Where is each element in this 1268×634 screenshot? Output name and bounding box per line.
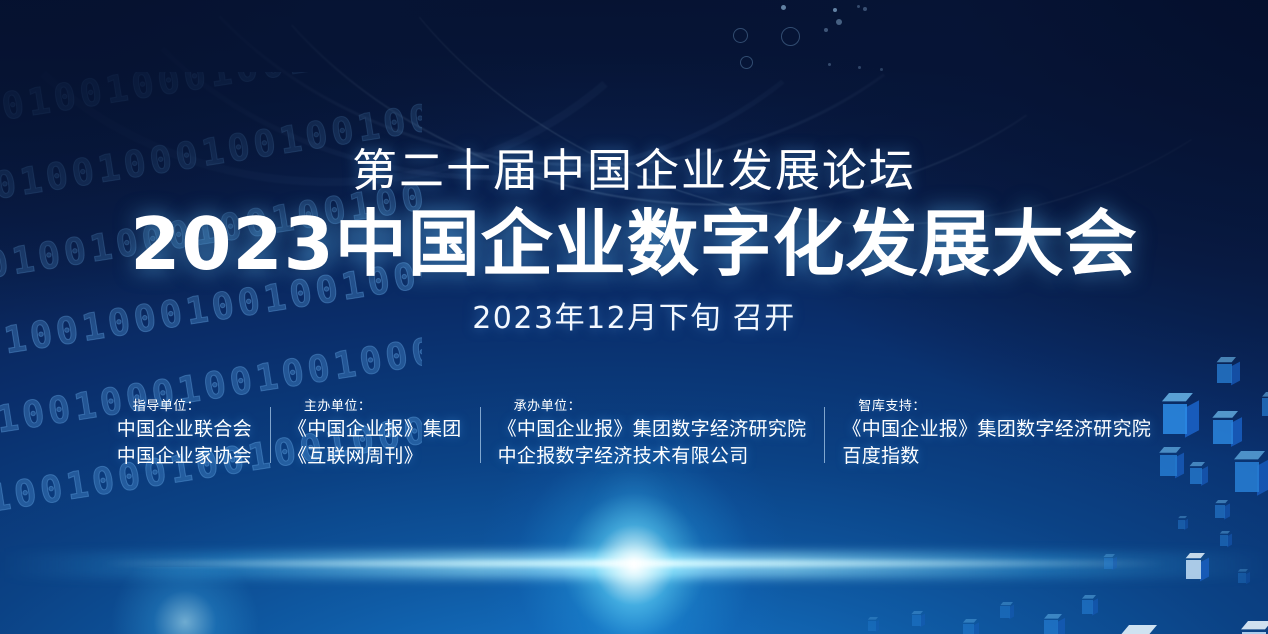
organizer-name: 《中国企业报》集团数字经济研究院 <box>842 416 1151 443</box>
forum-subtitle: 第二十届中国企业发展论坛 <box>352 148 916 193</box>
conference-poster: 00100100010010010001001 0010010001001001… <box>0 0 1268 634</box>
organizer-columns: 指导单位： 中国企业联合会 中国企业家协会 主办单位： 《中国企业报》集团 《互… <box>0 398 1268 469</box>
organizer-label: 主办单位： <box>288 398 462 416</box>
organizer-name: 《中国企业报》集团 <box>288 416 462 443</box>
event-date: 2023年12月下旬 召开 <box>472 304 796 334</box>
organizer-name: 中国企业家协会 <box>117 443 252 470</box>
organizer-label: 智库支持： <box>842 398 1151 416</box>
organizer-name: 百度指数 <box>842 443 1151 470</box>
organizer-column-undertaker: 承办单位： 《中国企业报》集团数字经济研究院 中企报数字经济技术有限公司 <box>480 398 825 469</box>
organizer-column-guidance: 指导单位： 中国企业联合会 中国企业家协会 <box>99 398 270 469</box>
organizer-column-thinktank: 智库支持： 《中国企业报》集团数字经济研究院 百度指数 <box>824 398 1169 469</box>
organizer-name: 中国企业联合会 <box>117 416 252 443</box>
organizer-name: 《互联网周刊》 <box>288 443 462 470</box>
page-title: 2023中国企业数字化发展大会 <box>130 206 1137 282</box>
organizer-name: 中企报数字经济技术有限公司 <box>498 443 807 470</box>
organizer-column-host: 主办单位： 《中国企业报》集团 《互联网周刊》 <box>270 398 480 469</box>
poster-content: 第二十届中国企业发展论坛 2023中国企业数字化发展大会 2023年12月下旬 … <box>0 0 1268 634</box>
organizer-label: 承办单位： <box>498 398 807 416</box>
organizer-name: 《中国企业报》集团数字经济研究院 <box>498 416 807 443</box>
organizer-label: 指导单位： <box>117 398 252 416</box>
